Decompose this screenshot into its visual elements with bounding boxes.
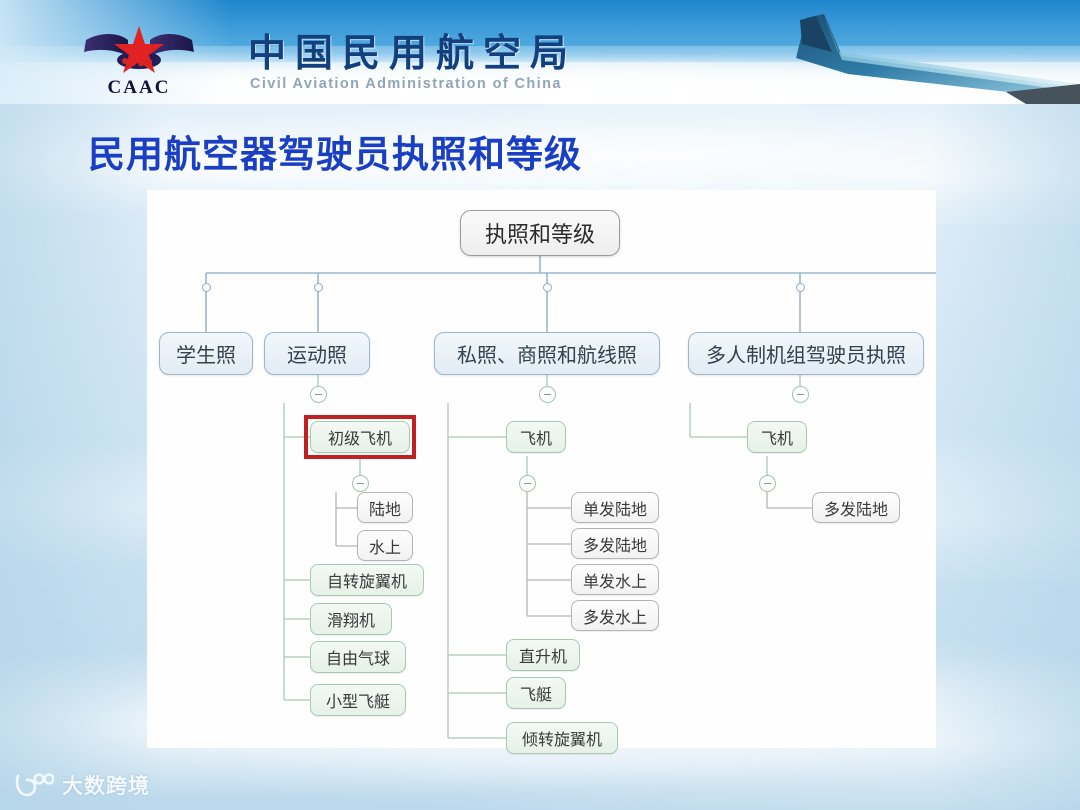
connector-dot-icon — [314, 283, 323, 292]
mindmap-node-free-balloon[interactable]: 自由气球 — [310, 641, 406, 673]
airplane-wing-photo-icon — [610, 0, 1080, 104]
connector-dot-icon — [543, 283, 552, 292]
connector-dot-icon — [796, 283, 805, 292]
mindmap-node-primary-aircraft[interactable]: 初级飞机 — [310, 421, 410, 453]
mindmap-node-airplane-mpl[interactable]: 飞机 — [747, 421, 807, 453]
caac-logo-text: CAAC — [78, 77, 200, 99]
mindmap-node-single-engine-land-ppl[interactable]: 单发陆地 — [571, 492, 659, 523]
banner-title-en: Civil Aviation Administration of China — [250, 76, 562, 92]
haze-left — [0, 104, 170, 810]
watermark: 大数跨境 — [14, 770, 150, 800]
page-title: 民用航空器驾驶员执照和等级 — [88, 124, 582, 178]
mindmap-node-glider[interactable]: 滑翔机 — [310, 603, 392, 635]
mindmap-node-gyroplane[interactable]: 自转旋翼机 — [310, 564, 424, 596]
collapse-minus-icon-sport[interactable] — [310, 386, 327, 403]
mindmap-node-single-engine-sea-ppl[interactable]: 单发水上 — [571, 564, 659, 595]
mindmap-node-land-sport[interactable]: 陆地 — [357, 492, 413, 523]
caac-wings-emblem-icon: CAAC — [78, 18, 200, 98]
mindmap-node-helicopter[interactable]: 直升机 — [506, 639, 580, 671]
header-banner: CAAC 中国民用航空局 Civil Aviation Administrati… — [0, 0, 1080, 104]
mindmap-node-root[interactable]: 执照和等级 — [460, 210, 620, 256]
collapse-minus-icon-airplane-ppl[interactable] — [519, 475, 536, 492]
mindmap-node-sport-licence[interactable]: 运动照 — [264, 332, 370, 375]
haze-right — [930, 104, 1080, 810]
collapse-minus-icon-ppl-cpl-atpl[interactable] — [539, 386, 556, 403]
mindmap-node-student-licence[interactable]: 学生照 — [159, 332, 253, 375]
collapse-minus-icon-primary-aircraft[interactable] — [352, 475, 369, 492]
mindmap-node-small-airship[interactable]: 小型飞艇 — [310, 684, 406, 716]
mindmap-node-sea-sport[interactable]: 水上 — [357, 530, 413, 561]
collapse-minus-icon-mpl[interactable] — [792, 386, 809, 403]
mindmap-node-airship[interactable]: 飞艇 — [506, 677, 566, 709]
banner-title-cn: 中国民用航空局 — [248, 22, 577, 77]
dashu-kuajing-logo-icon — [14, 772, 54, 798]
mindmap-panel: 执照和等级 学生照 运动照 私照、商照和航线照 多人制机组驾驶员执照 初级飞机 … — [147, 190, 936, 748]
mindmap-node-airplane-ppl[interactable]: 飞机 — [506, 421, 566, 453]
mindmap-node-multi-engine-land-ppl[interactable]: 多发陆地 — [571, 528, 659, 559]
watermark-brand: 大数跨境 — [62, 770, 150, 800]
mindmap-node-ppl-cpl-atpl[interactable]: 私照、商照和航线照 — [434, 332, 660, 375]
mindmap-node-mpl[interactable]: 多人制机组驾驶员执照 — [688, 332, 924, 375]
mindmap-node-multi-engine-sea-ppl[interactable]: 多发水上 — [571, 600, 659, 631]
mindmap-node-multi-engine-land-mpl[interactable]: 多发陆地 — [812, 492, 900, 523]
collapse-minus-icon-airplane-mpl[interactable] — [759, 475, 776, 492]
connector-dot-icon — [202, 283, 211, 292]
mindmap-node-tiltrotor[interactable]: 倾转旋翼机 — [506, 722, 618, 754]
